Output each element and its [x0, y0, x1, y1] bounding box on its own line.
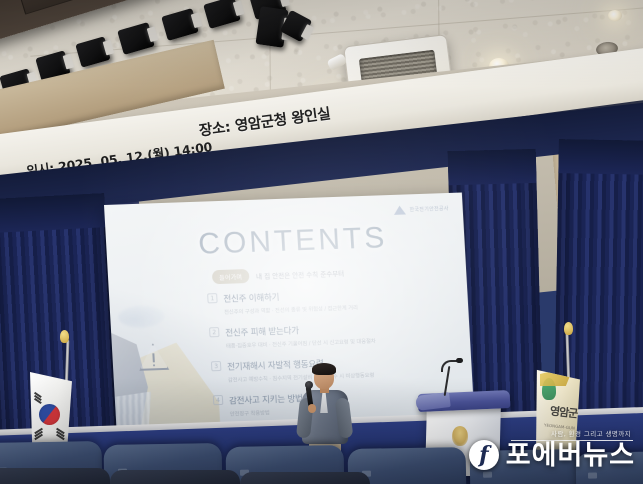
flag-finial-left [60, 330, 69, 343]
curtain-fold [448, 149, 537, 185]
banner-place-text: 장소: 영암군청 왕인실 [198, 102, 332, 140]
list-item: 2 전신주 피해 받는다가 태풍·집중호우 대비 · 전신주 기울어짐 / 단선… [209, 319, 448, 350]
flag-finial-right [564, 322, 573, 335]
curtain-fold [0, 193, 106, 233]
triangle-logo-icon [393, 205, 405, 214]
soffit-panel [12, 0, 75, 15]
podium-emblem [452, 426, 468, 446]
item-number: 2 [209, 327, 220, 337]
auditorium-seat-shadow [110, 470, 240, 484]
slide-org-logo: 한국전기안전공사 [393, 204, 449, 215]
handheld-microphone-head [305, 381, 313, 389]
forever-news-logo-icon: f [469, 440, 499, 470]
chip-label: 들어가며 [212, 269, 250, 284]
item-number: 4 [213, 395, 224, 405]
chip-note: 내 집 안전은 안전 수칙 준수부터 [256, 268, 345, 281]
slide-logo-text: 한국전기안전공사 [409, 205, 449, 213]
curtain-fold [558, 139, 643, 175]
watermark-brand-text: 포에버뉴스 [506, 442, 635, 469]
list-item: 1 전신주 이해하기 전신주의 구성과 역할 · 전선의 종류 및 위험성 / … [207, 285, 446, 316]
podium-microphone-head [456, 358, 463, 363]
watermark-tagline: 사람, 환경 그리고 생명까지 [551, 428, 631, 438]
county-flag-text: 영암군 [549, 403, 578, 422]
speaker-hand [308, 404, 316, 413]
warning-triangle-icon [153, 364, 155, 366]
illustration-cloud [118, 305, 165, 329]
ceiling-downlight [608, 10, 622, 21]
taeguk-symbol [39, 404, 60, 425]
press-photo-scene: 일시: 2025. 05. 12.(월) 14:00 장소: 영암군청 왕인실 … [0, 0, 643, 484]
slide-title: CONTENTS [197, 221, 388, 262]
auditorium-seat-shadow [240, 472, 370, 484]
slide-intro-chip: 들어가며 내 집 안전은 안전 수칙 준수부터 [212, 266, 345, 285]
item-number: 3 [211, 361, 222, 371]
item-number: 1 [207, 293, 218, 303]
watermark: f 포에버뉴스 [469, 440, 635, 470]
auditorium-seat-shadow [0, 468, 110, 484]
warning-triangle-icon [152, 353, 155, 362]
speaker-hair [312, 363, 336, 375]
